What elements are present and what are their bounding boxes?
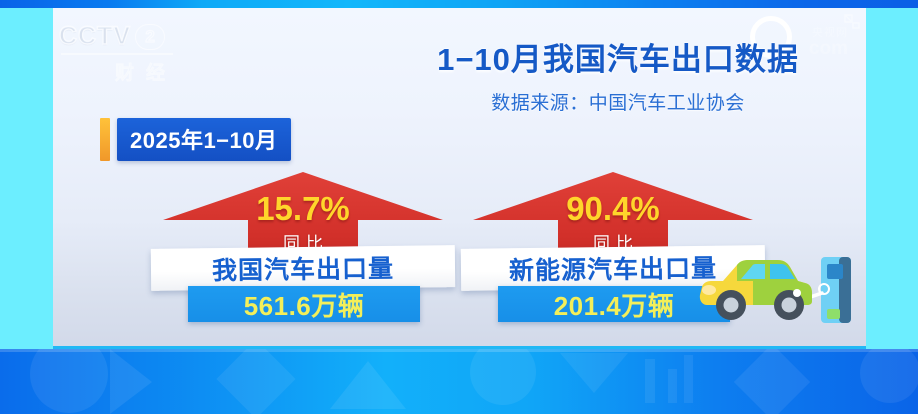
data-source-label: 数据来源：中国汽车工业协会 [383,88,853,115]
banner-triangle-shape [110,349,152,414]
left-side-strip [0,8,53,349]
banner-triangle-down-shape [560,353,628,393]
period-badge-accent-bar [100,118,110,161]
stat-value-label: 561.6万辆 [244,286,365,323]
stat-group-total-vehicle-exports: 15.7% 同比 我国汽车出口量 561.6万辆 [158,168,448,263]
banner-circle-shape [30,349,108,413]
banner-diamond-shape [216,349,295,414]
period-badge: 2025年1−10月 [100,118,291,161]
main-screen: CCTV 2 财经 央视网 com 1−10月我国汽车出口数据 数据来源：中国汽… [53,8,866,349]
cctv-channel-number: 2 [135,24,165,50]
banner-bar-shape [645,359,655,403]
stat-value-box: 561.6万辆 [188,286,420,322]
banner-bar-shape [684,355,693,403]
cctv-logo-text: CCTV [59,22,131,51]
stat-name-label: 我国汽车出口量 [212,249,394,287]
page-title: 1−10月我国汽车出口数据 [383,34,853,79]
stat-name-label: 新能源汽车出口量 [509,249,717,288]
cctv-logo-subtitle: 财经 [59,58,219,85]
growth-percent: 15.7% [158,190,448,228]
resize-corner-icon [842,12,862,30]
bottom-decorative-banner [0,349,918,414]
growth-arrow-text: 90.4% 同比 [468,168,758,254]
headline-block: 1−10月我国汽车出口数据 数据来源：中国汽车工业协会 [383,34,853,115]
growth-arrow-text: 15.7% 同比 [158,168,448,254]
banner-diamond-shape [734,349,810,414]
broadcast-graphic: CCTV 2 财经 央视网 com 1−10月我国汽车出口数据 数据来源：中国汽… [0,0,918,414]
banner-circle-shape [860,349,918,403]
stat-name-ribbon: 我国汽车出口量 [151,245,455,291]
banner-chevron-shape [330,361,406,409]
cctv-channel-logo: CCTV 2 财经 [59,22,219,85]
stat-value-label: 201.4万辆 [554,286,675,323]
banner-bar-shape [668,369,677,403]
top-accent-bar [0,0,918,8]
growth-percent: 90.4% [468,190,758,228]
right-side-strip [866,8,918,349]
period-badge-box: 2025年1−10月 [117,118,291,161]
cctv-logo-underline [61,53,173,55]
banner-circle-shape [470,349,536,405]
period-badge-label: 2025年1−10月 [130,128,278,153]
electric-car-charging-icon [693,243,866,333]
